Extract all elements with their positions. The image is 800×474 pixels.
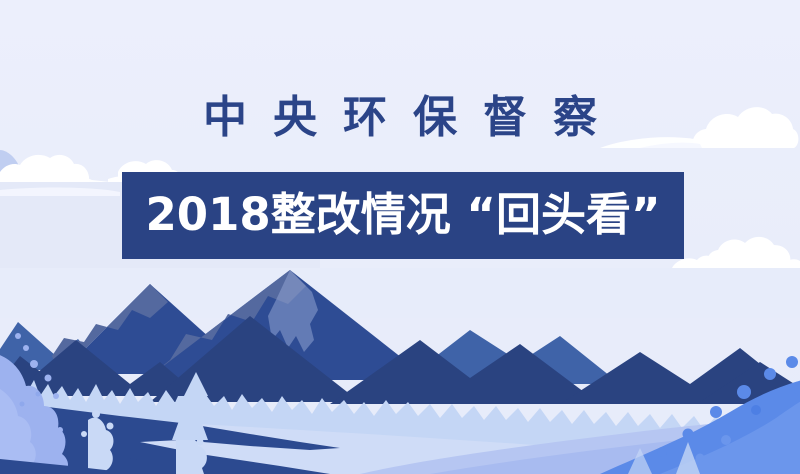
poster-canvas: 中央环保督察 2018整改情况 “回头看” (0, 0, 800, 474)
subtitle-banner: 2018整改情况 “回头看” (122, 172, 684, 259)
page-title: 中央环保督察 (0, 92, 800, 144)
landscape-illustration (0, 244, 800, 474)
subtitle-text: 2018整改情况 “回头看” (145, 190, 660, 240)
